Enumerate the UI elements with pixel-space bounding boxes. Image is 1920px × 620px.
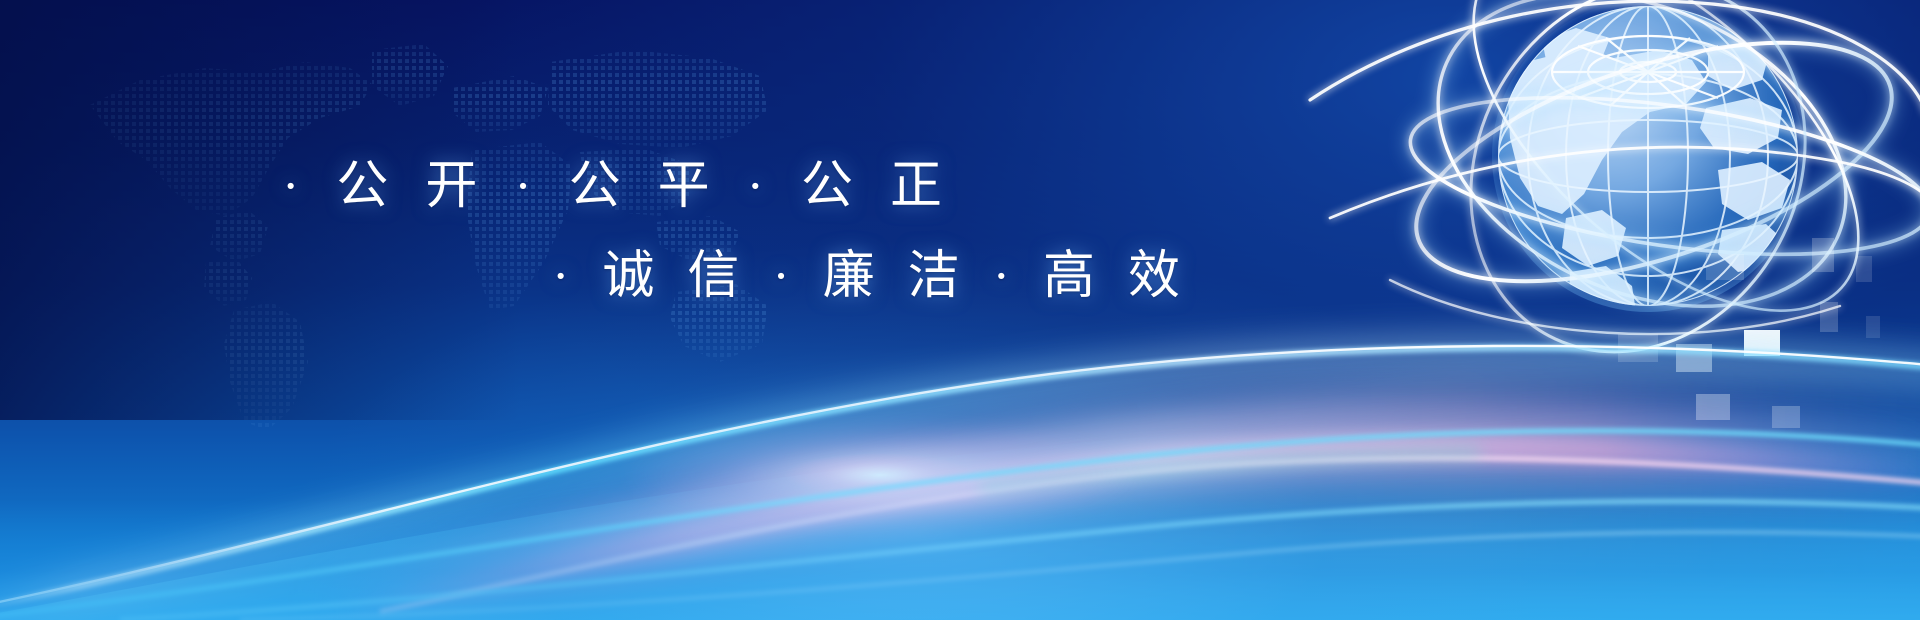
bottom-fade	[0, 500, 1920, 620]
banner-root: · 公 开 · 公 平 · 公 正 · 诚 信 · 廉 洁 · 高 效	[0, 0, 1920, 620]
translucent-squares-icon	[1660, 250, 1920, 440]
dotted-world-map-icon	[20, 10, 780, 430]
